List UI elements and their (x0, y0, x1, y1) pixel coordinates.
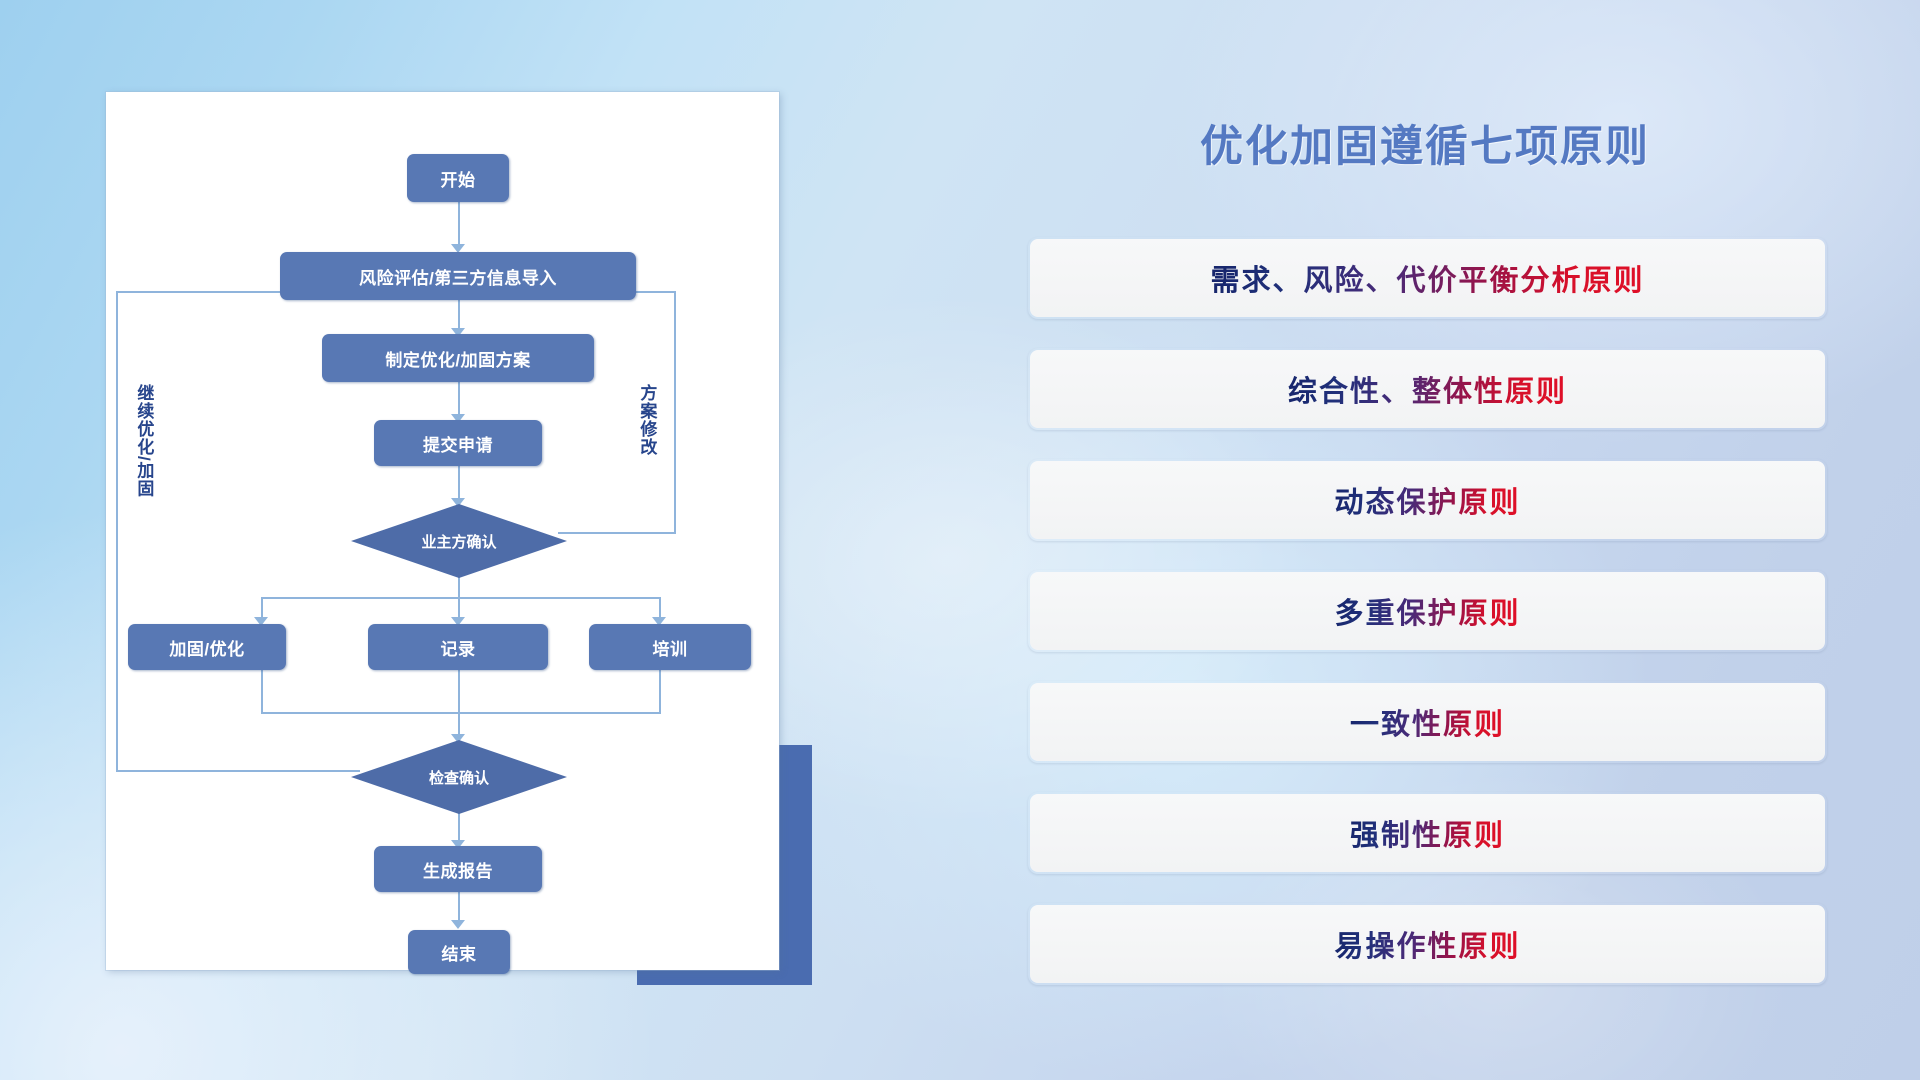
flow-node-plan-label: 制定优化/加固方案 (385, 346, 530, 371)
flow-node-submit-application-label: 提交申请 (423, 431, 493, 456)
principle-item-6[interactable]: 强制性原则 (1028, 792, 1827, 874)
flow-node-training[interactable]: 培训 (589, 624, 751, 670)
principles-panel: 优化加固遵循七项原则 需求、风险、代价平衡分析原则 综合性、整体性原则 动态保护… (1000, 90, 1850, 1010)
flow-decision-check-confirm[interactable]: 检查确认 (351, 740, 567, 814)
flow-node-training-label: 培训 (653, 635, 688, 660)
principle-item-5[interactable]: 一致性原则 (1028, 681, 1827, 763)
principle-item-3-label: 动态保护原则 (1334, 479, 1520, 521)
connector-fanout-bus (261, 597, 661, 599)
connector-loop-left-bottom (116, 770, 360, 772)
principle-item-2[interactable]: 综合性、整体性原则 (1028, 348, 1827, 430)
flow-node-submit-application[interactable]: 提交申请 (374, 420, 542, 466)
principle-item-1[interactable]: 需求、风险、代价平衡分析原则 (1028, 237, 1827, 319)
flow-node-plan[interactable]: 制定优化/加固方案 (322, 334, 594, 382)
flow-node-start[interactable]: 开始 (407, 154, 509, 202)
flow-node-reinforce-label: 加固/优化 (169, 635, 244, 660)
principle-item-3[interactable]: 动态保护原则 (1028, 459, 1827, 541)
principle-item-5-label: 一致性原则 (1350, 701, 1505, 743)
panel-title: 优化加固遵循七项原则 (1000, 112, 1850, 174)
connector-loop-right-vertical (674, 291, 676, 533)
flow-decision-owner-confirm[interactable]: 业主方确认 (351, 504, 567, 578)
flow-node-generate-report-label: 生成报告 (423, 857, 493, 882)
connector-start-to-risk (458, 202, 460, 250)
flow-edge-label-plan-revision: 方案修改 (637, 384, 655, 456)
principle-item-7-label: 易操作性原则 (1334, 923, 1520, 965)
arrowhead-report-to-end (451, 920, 465, 929)
principle-item-6-label: 强制性原则 (1350, 812, 1505, 854)
principle-item-4-label: 多重保护原则 (1334, 590, 1520, 632)
flow-node-record[interactable]: 记录 (368, 624, 548, 670)
flow-node-record-label: 记录 (441, 635, 476, 660)
flow-node-start-label: 开始 (441, 166, 476, 191)
flow-node-end[interactable]: 结束 (408, 930, 510, 974)
flowchart-card: 开始 风险评估/第三方信息导入 制定优化/加固方案 提交申请 业主方确认 加固/… (106, 92, 779, 970)
principle-item-4[interactable]: 多重保护原则 (1028, 570, 1827, 652)
flow-node-end-label: 结束 (442, 940, 477, 965)
connector-merge-bus (261, 712, 661, 714)
connector-record-to-check (458, 670, 460, 740)
connector-loop-right-bottom (558, 532, 676, 534)
flow-node-risk-assessment-label: 风险评估/第三方信息导入 (359, 264, 557, 289)
flowchart-diagram: 开始 风险评估/第三方信息导入 制定优化/加固方案 提交申请 业主方确认 加固/… (106, 92, 779, 970)
principle-item-1-label: 需求、风险、代价平衡分析原则 (1210, 257, 1644, 299)
connector-training-down (659, 670, 661, 714)
flow-node-reinforce[interactable]: 加固/优化 (128, 624, 286, 670)
flow-decision-check-confirm-label: 检查确认 (429, 767, 489, 788)
flow-node-risk-assessment[interactable]: 风险评估/第三方信息导入 (280, 252, 636, 300)
flow-node-generate-report[interactable]: 生成报告 (374, 846, 542, 892)
connector-loop-left-vertical (116, 291, 118, 771)
principle-item-7[interactable]: 易操作性原则 (1028, 903, 1827, 985)
principle-item-2-label: 综合性、整体性原则 (1288, 368, 1567, 410)
flow-decision-owner-confirm-label: 业主方确认 (421, 531, 496, 552)
flow-edge-label-continue-optimize: 继续优化/加固 (134, 384, 152, 498)
connector-reinforce-down (261, 670, 263, 714)
